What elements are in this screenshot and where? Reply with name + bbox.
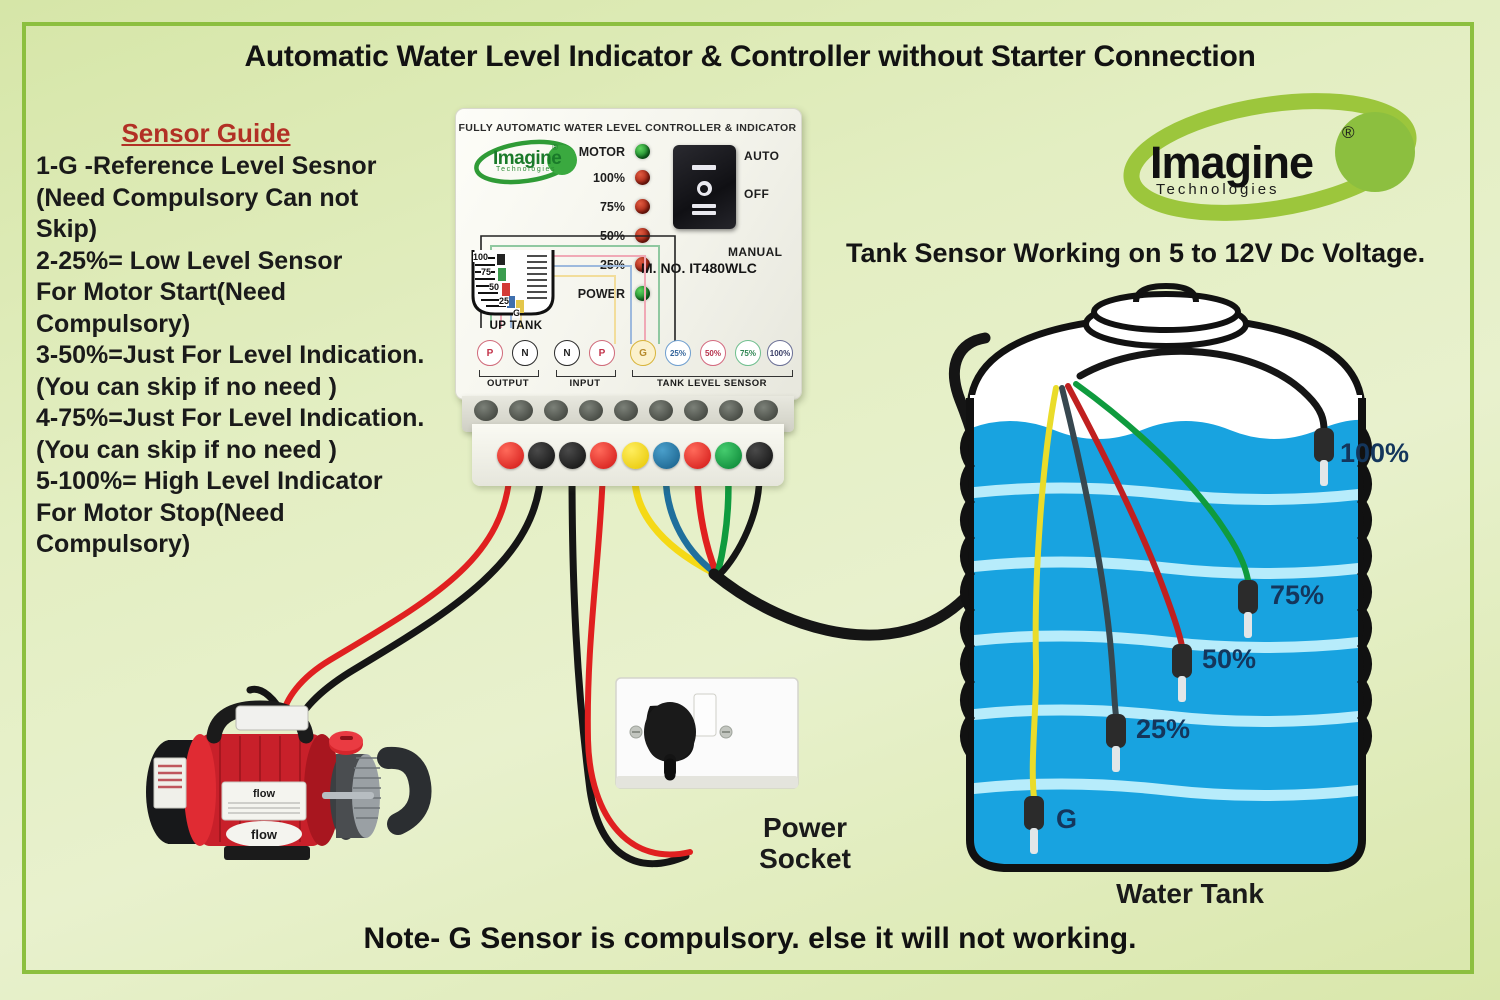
gauge-mark-g: G: [513, 308, 520, 318]
screw-terminal[interactable]: [474, 400, 498, 421]
water-pump-motor: flow flow: [140, 700, 440, 875]
terminal-sensor-100[interactable]: 100%: [767, 340, 793, 366]
screw-terminal[interactable]: [754, 400, 778, 421]
screw-terminal[interactable]: [649, 400, 673, 421]
led-75: [635, 199, 650, 214]
gauge-mark-50: 50: [489, 282, 499, 292]
led-motor: [635, 144, 650, 159]
wire-cap-input-n[interactable]: [559, 442, 586, 469]
controller-brand-subtitle: Technologies: [496, 166, 556, 173]
wire-cap-output-n[interactable]: [528, 442, 555, 469]
terminal-output-p[interactable]: P: [477, 340, 503, 366]
switch-label-manual: MANUAL: [728, 245, 782, 259]
socket-caption-line2: Socket: [690, 843, 920, 874]
switch-label-auto: AUTO: [744, 149, 779, 163]
screw-terminal[interactable]: [579, 400, 603, 421]
wire-cap-input-p[interactable]: [590, 442, 617, 469]
power-socket[interactable]: [614, 676, 800, 800]
tank-label-50: 50%: [1202, 644, 1256, 675]
screw-terminal[interactable]: [684, 400, 708, 421]
screw-terminal[interactable]: [719, 400, 743, 421]
wire-cap-sensor-75[interactable]: [715, 442, 742, 469]
water-tank-caption: Water Tank: [1050, 878, 1330, 910]
screw-terminal[interactable]: [509, 400, 533, 421]
water-tank: 100% 75% 50% 25% G: [930, 280, 1430, 880]
tank-label-g: G: [1056, 804, 1077, 835]
switch-label-off: OFF: [744, 187, 769, 201]
tank-label-25: 25%: [1136, 714, 1190, 745]
terminal-output-n[interactable]: N: [512, 340, 538, 366]
screw-terminal[interactable]: [544, 400, 568, 421]
group-label-output: OUTPUT: [475, 378, 541, 389]
led-100: [635, 170, 650, 185]
led-label-100: 100%: [563, 171, 625, 185]
led-label-motor: MOTOR: [563, 145, 625, 159]
tank-label-100: 100%: [1340, 438, 1409, 469]
screw-terminal[interactable]: [614, 400, 638, 421]
wire-cap-sensor-25[interactable]: [653, 442, 680, 469]
tank-label-75: 75%: [1270, 580, 1324, 611]
gauge-mark-100: 100: [473, 252, 488, 262]
bracket-output: [479, 370, 539, 377]
wire-cap-sensor-50[interactable]: [684, 442, 711, 469]
controller-header-text: FULLY AUTOMATIC WATER LEVEL CONTROLLER &…: [455, 122, 800, 134]
wire-cap-output-p[interactable]: [497, 442, 524, 469]
terminal-input-n[interactable]: N: [554, 340, 580, 366]
svg-text:flow: flow: [251, 827, 278, 842]
up-tank-caption: UP TANK: [473, 320, 559, 332]
wire-cap-sensor-g[interactable]: [622, 442, 649, 469]
wire-cap-sensor-100[interactable]: [746, 442, 773, 469]
power-socket-caption: Power Socket: [690, 812, 920, 875]
svg-text:flow: flow: [253, 788, 275, 800]
terminal-sensor-50[interactable]: 50%: [700, 340, 726, 366]
socket-caption-line1: Power: [690, 812, 920, 843]
water-level-controller[interactable]: FULLY AUTOMATIC WATER LEVEL CONTROLLER &…: [455, 108, 800, 398]
led-label-75: 75%: [563, 200, 625, 214]
terminal-sensor-25[interactable]: 25%: [665, 340, 691, 366]
terminal-input-p[interactable]: P: [589, 340, 615, 366]
group-label-tank-sensor: TANK LEVEL SENSOR: [631, 378, 793, 389]
gauge-mark-25: 25: [499, 296, 509, 306]
group-label-input: INPUT: [552, 378, 618, 389]
bracket-tank-sensor: [632, 370, 793, 377]
terminal-sensor-75[interactable]: 75%: [735, 340, 761, 366]
bottom-note: Note- G Sensor is compulsory. else it wi…: [0, 922, 1500, 956]
bracket-input: [556, 370, 616, 377]
controller-brand-registered-icon: ®: [552, 143, 558, 152]
gauge-mark-75: 75: [481, 267, 491, 277]
terminal-sensor-g[interactable]: G: [630, 340, 656, 366]
